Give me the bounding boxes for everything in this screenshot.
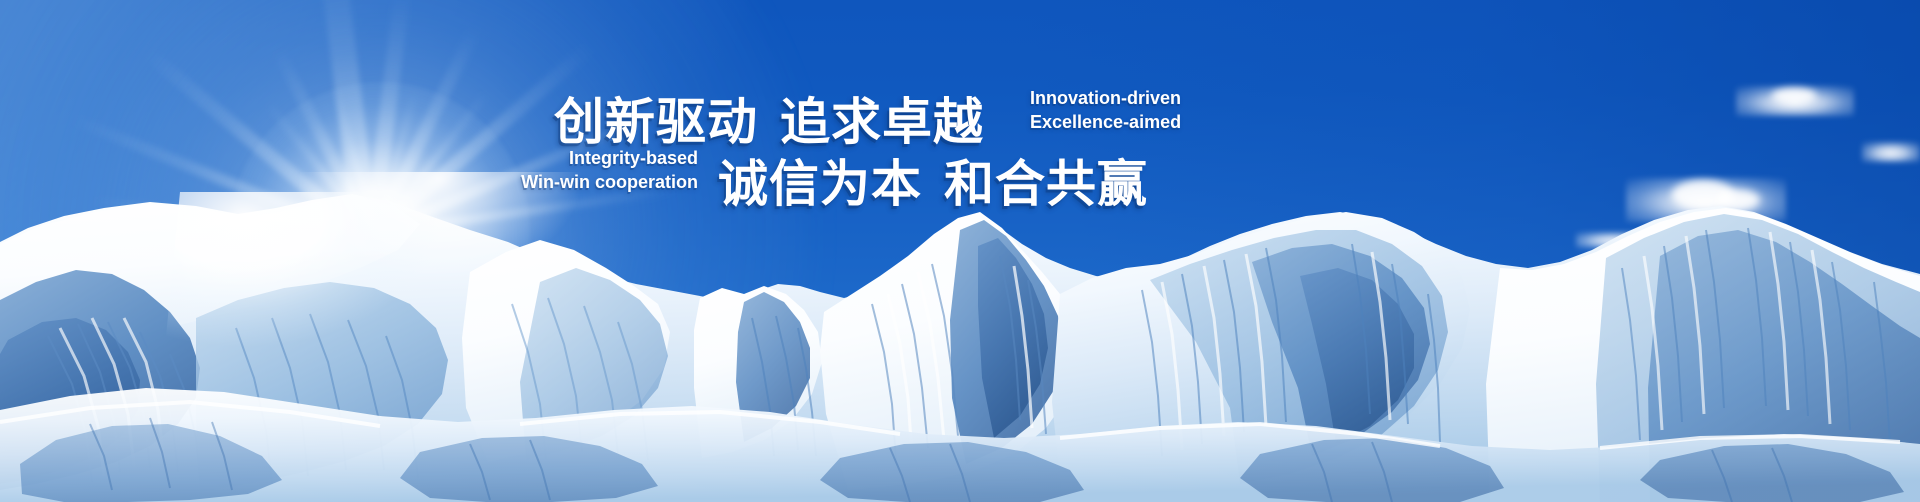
mountain-range-svg	[0, 172, 1920, 502]
hero-banner: 创新驱动追求卓越 Innovation-driven Excellence-ai…	[0, 0, 1920, 502]
mountain-range	[0, 172, 1920, 502]
cloud-upper-right-puff	[1772, 88, 1816, 104]
